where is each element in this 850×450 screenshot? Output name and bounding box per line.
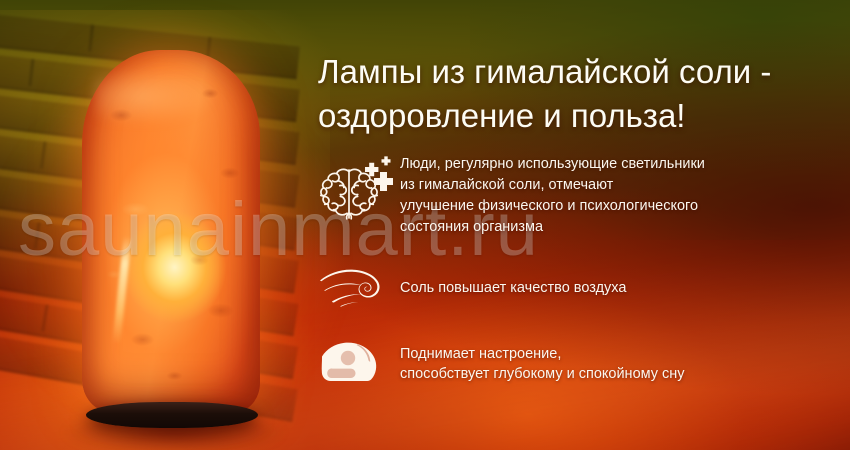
feature-text-air-quality: Соль повышает качество воздуха <box>400 264 626 299</box>
feature-line: способствует глубокому и спокойному сну <box>400 364 685 385</box>
feature-line: из гималайской соли, отмечают <box>400 175 705 196</box>
feature-item-sleep: Поднимает настроение, способствует глубо… <box>318 336 838 394</box>
lamp-wooden-base <box>86 402 258 428</box>
feature-text-sleep: Поднимает настроение, способствует глубо… <box>400 336 685 386</box>
feature-list: Люди, регулярно использующие светильники… <box>318 152 838 394</box>
lamp-highlight <box>94 68 214 124</box>
feature-line: Соль повышает качество воздуха <box>400 278 626 299</box>
feature-item-air-quality: Соль повышает качество воздуха <box>318 264 838 310</box>
headline: Лампы из гималайской соли - оздоровление… <box>318 50 838 137</box>
sleeping-person-icon <box>318 336 400 394</box>
feature-line: Поднимает настроение, <box>400 344 685 365</box>
feature-line: Люди, регулярно использующие светильники <box>400 154 705 175</box>
headline-line-1: Лампы из гималайской соли - <box>318 53 771 90</box>
salt-lamp-promo-banner: Лампы из гималайской соли - оздоровление… <box>0 0 850 450</box>
feature-line: состояния организма <box>400 217 705 238</box>
feature-line: улучшение физического и психологического <box>400 196 705 217</box>
feature-text-wellbeing: Люди, регулярно использующие светильники… <box>400 152 705 238</box>
himalayan-salt-lamp-image <box>60 40 280 430</box>
feature-item-wellbeing: Люди, регулярно использующие светильники… <box>318 152 838 238</box>
brain-plus-icon <box>318 152 400 228</box>
headline-line-2: оздоровление и польза! <box>318 94 838 138</box>
wind-swirl-icon <box>318 264 400 310</box>
